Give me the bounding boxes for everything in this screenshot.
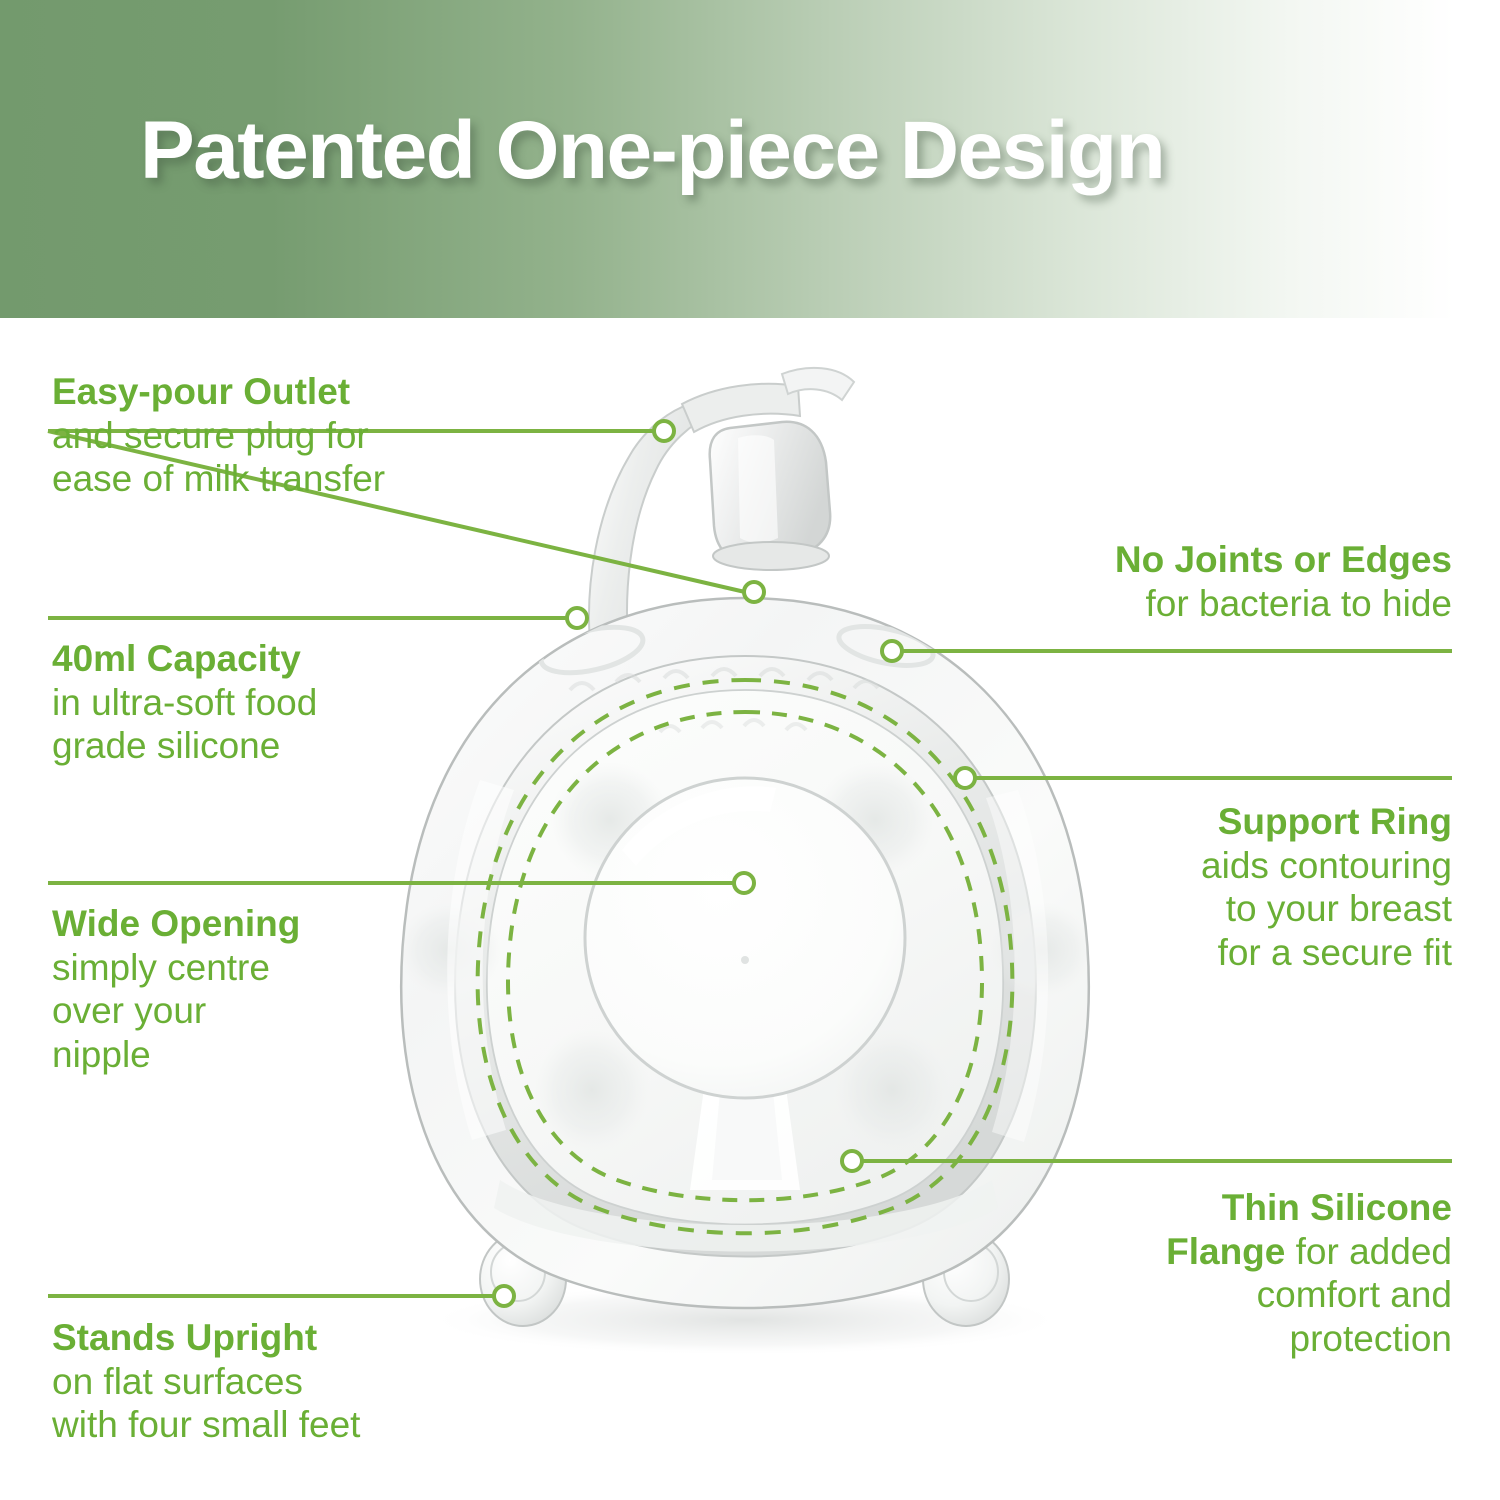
infographic-page: Patented One-piece Design (0, 0, 1500, 1500)
callout-body-line: over your (52, 989, 452, 1033)
page-title: Patented One-piece Design (140, 104, 1164, 198)
callout-heading: Easy-pour Outlet (52, 370, 492, 414)
callout-body-line: for bacteria to hide (892, 582, 1452, 626)
callout-thin-silicone-flange: Thin Silicone Flange for added comfort a… (912, 1186, 1452, 1361)
callout-body-line: nipple (52, 1033, 452, 1077)
callout-body-line: and secure plug for (52, 414, 492, 458)
callout-heading: Support Ring (932, 800, 1452, 844)
callout-heading: Wide Opening (52, 902, 452, 946)
callout-body-line: to your breast (932, 887, 1452, 931)
callout-body-line: simply centre (52, 946, 452, 990)
callout-capacity: 40ml Capacity in ultra-soft food grade s… (52, 637, 472, 768)
callout-heading-emphasis: Flange (1166, 1231, 1285, 1272)
callout-heading: 40ml Capacity (52, 637, 472, 681)
callout-no-joints-or-edges: No Joints or Edges for bacteria to hide (892, 538, 1452, 625)
callout-body-line: in ultra-soft food (52, 681, 472, 725)
callout-wide-opening: Wide Opening simply centre over your nip… (52, 902, 452, 1077)
callout-heading: No Joints or Edges (892, 538, 1452, 582)
callout-body-line: with four small feet (52, 1403, 492, 1447)
callout-body-line: protection (912, 1317, 1452, 1361)
callout-heading: Thin Silicone (912, 1186, 1452, 1230)
callout-heading: Stands Upright (52, 1316, 492, 1360)
callout-easy-pour-outlet: Easy-pour Outlet and secure plug for eas… (52, 370, 492, 501)
callout-stands-upright: Stands Upright on flat surfaces with fou… (52, 1316, 492, 1447)
callout-body-line: on flat surfaces (52, 1360, 492, 1404)
callout-body-line: comfort and (912, 1273, 1452, 1317)
callout-body-line: aids contouring (932, 844, 1452, 888)
callout-body-inline: for added (1285, 1231, 1452, 1272)
callout-body-line: ease of milk transfer (52, 457, 492, 501)
callout-body-line: grade silicone (52, 724, 472, 768)
callout-support-ring: Support Ring aids contouring to your bre… (932, 800, 1452, 975)
callout-heading-second-line: Flange for added (912, 1230, 1452, 1274)
callout-body-line: for a secure fit (932, 931, 1452, 975)
wide-opening-aperture (585, 778, 905, 1098)
